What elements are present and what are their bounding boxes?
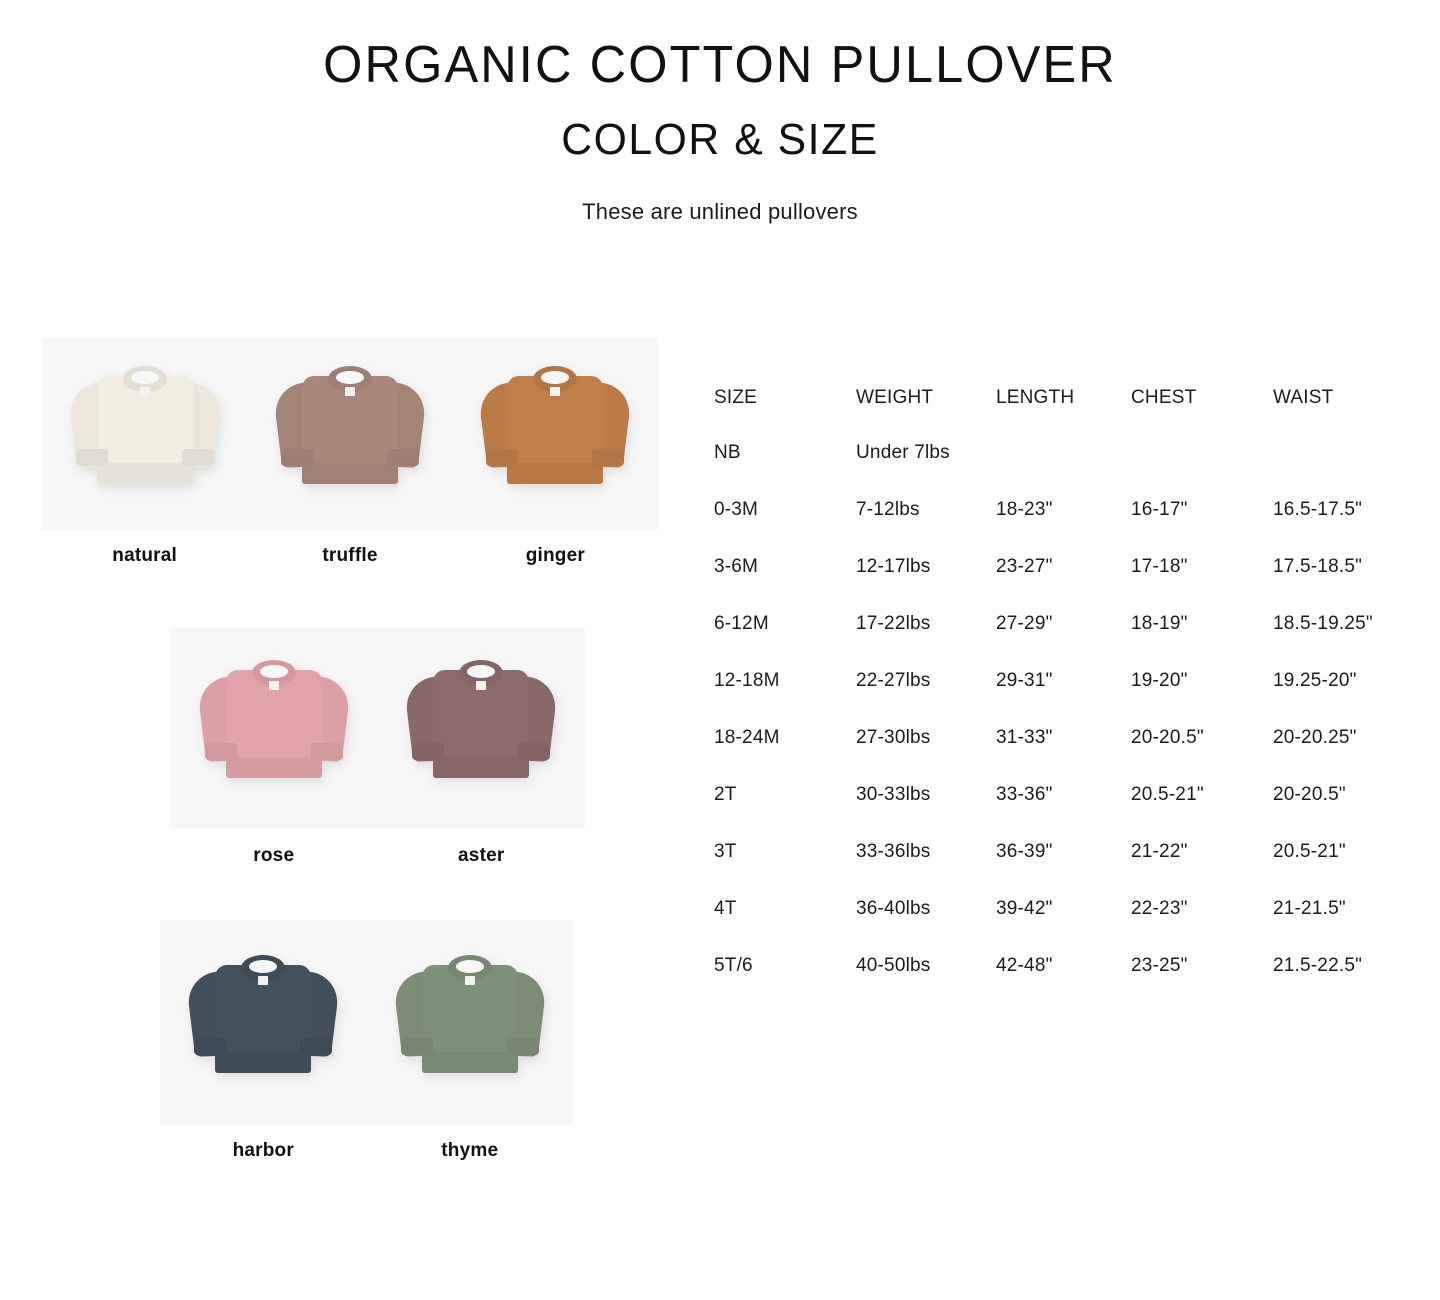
color-label-rose: rose <box>170 845 378 867</box>
cell-weight: 22-27lbs <box>856 652 996 709</box>
sweater-tag-part <box>345 387 355 396</box>
sweater-tag-part <box>258 976 268 985</box>
cell-weight: 7-12lbs <box>856 481 996 538</box>
color-photo-tile-row-1 <box>42 338 658 530</box>
color-label-row-2: rose aster <box>170 845 585 867</box>
cell-chest: 19-20" <box>1131 652 1273 709</box>
color-label-aster: aster <box>378 845 586 867</box>
sweater-neck-hole-part <box>131 371 159 384</box>
cell-weight: 30-33lbs <box>856 766 996 823</box>
column-header-weight: WEIGHT <box>856 372 996 424</box>
column-header-size: SIZE <box>714 372 856 424</box>
color-gallery: natural truffle ginger rose aster harbor… <box>0 300 700 1200</box>
sweater-icon <box>395 948 545 1098</box>
cell-waist: 20-20.25" <box>1273 709 1404 766</box>
sweater-cuff-l-part <box>412 743 444 760</box>
page-tagline: These are unlined pullovers <box>0 163 1440 225</box>
sweater-cuff-l-part <box>486 449 518 466</box>
size-chart-table: SIZE WEIGHT LENGTH CHEST WAIST NBUnder 7… <box>714 372 1404 994</box>
color-label-row-3: harbor thyme <box>160 1140 573 1162</box>
table-row: 5T/640-50lbs42-48"23-25"21.5-22.5" <box>714 937 1404 994</box>
cell-size: 4T <box>714 880 856 937</box>
cell-size: 6-12M <box>714 595 856 652</box>
color-photo-tile-row-3 <box>160 920 573 1125</box>
sweater-cuff-r-part <box>387 449 419 466</box>
cell-length: 29-31" <box>996 652 1131 709</box>
sweater-cuff-r-part <box>311 743 343 760</box>
sweater-hem-part <box>433 757 529 778</box>
color-label-row-1: natural truffle ginger <box>42 545 658 567</box>
color-label-truffle: truffle <box>247 545 452 567</box>
sweater-tag-part <box>550 387 560 396</box>
table-row: 0-3M7-12lbs18-23"16-17"16.5-17.5" <box>714 481 1404 538</box>
table-body: NBUnder 7lbs0-3M7-12lbs18-23"16-17"16.5-… <box>714 424 1404 994</box>
cell-chest <box>1131 424 1273 481</box>
table-row: 3T33-36lbs36-39"21-22"20.5-21" <box>714 823 1404 880</box>
cell-length: 31-33" <box>996 709 1131 766</box>
cell-weight: 27-30lbs <box>856 709 996 766</box>
cell-length: 33-36" <box>996 766 1131 823</box>
sweater-cuff-l-part <box>401 1038 433 1055</box>
table-row: 12-18M22-27lbs29-31"19-20"19.25-20" <box>714 652 1404 709</box>
sweater-neck-hole-part <box>456 960 484 973</box>
sweater-icon <box>199 653 349 803</box>
table-header-row: SIZE WEIGHT LENGTH CHEST WAIST <box>714 372 1404 424</box>
sweater-tag-part <box>140 387 150 396</box>
cell-weight: 36-40lbs <box>856 880 996 937</box>
cell-length: 36-39" <box>996 823 1131 880</box>
cell-chest: 23-25" <box>1131 937 1273 994</box>
cell-length: 27-29" <box>996 595 1131 652</box>
cell-size: 3T <box>714 823 856 880</box>
sweater-cuff-r-part <box>507 1038 539 1055</box>
cell-size: 5T/6 <box>714 937 856 994</box>
sweater-cuff-l-part <box>194 1038 226 1055</box>
sweater-tag-part <box>269 681 279 690</box>
cell-size: 12-18M <box>714 652 856 709</box>
sweater-cuff-r-part <box>592 449 624 466</box>
page-header: ORGANIC COTTON PULLOVER COLOR & SIZE The… <box>0 0 1440 225</box>
product-photo-harbor[interactable] <box>160 920 367 1125</box>
cell-length: 23-27" <box>996 538 1131 595</box>
sweater-cuff-r-part <box>182 449 214 466</box>
sweater-icon <box>188 948 338 1098</box>
product-photo-natural[interactable] <box>42 338 247 530</box>
sweater-neck-hole-part <box>260 665 288 678</box>
color-label-thyme: thyme <box>367 1140 574 1162</box>
sweater-tag-part <box>465 976 475 985</box>
cell-size: NB <box>714 424 856 481</box>
cell-size: 0-3M <box>714 481 856 538</box>
product-photo-rose[interactable] <box>170 628 378 828</box>
product-photo-truffle[interactable] <box>247 338 452 530</box>
size-chart: SIZE WEIGHT LENGTH CHEST WAIST NBUnder 7… <box>714 372 1404 994</box>
cell-chest: 22-23" <box>1131 880 1273 937</box>
cell-waist: 17.5-18.5" <box>1273 538 1404 595</box>
cell-weight: Under 7lbs <box>856 424 996 481</box>
cell-waist: 20.5-21" <box>1273 823 1404 880</box>
table-row: 3-6M12-17lbs23-27"17-18"17.5-18.5" <box>714 538 1404 595</box>
sweater-cuff-l-part <box>281 449 313 466</box>
table-row: 18-24M27-30lbs31-33"20-20.5"20-20.25" <box>714 709 1404 766</box>
sweater-hem-part <box>226 757 322 778</box>
sweater-cuff-r-part <box>300 1038 332 1055</box>
cell-weight: 12-17lbs <box>856 538 996 595</box>
cell-chest: 18-19" <box>1131 595 1273 652</box>
cell-size: 18-24M <box>714 709 856 766</box>
color-label-ginger: ginger <box>453 545 658 567</box>
cell-waist: 21-21.5" <box>1273 880 1404 937</box>
column-header-waist: WAIST <box>1273 372 1404 424</box>
cell-waist: 21.5-22.5" <box>1273 937 1404 994</box>
cell-chest: 20.5-21" <box>1131 766 1273 823</box>
cell-length <box>996 424 1131 481</box>
table-row: 6-12M17-22lbs27-29"18-19"18.5-19.25" <box>714 595 1404 652</box>
cell-waist: 18.5-19.25" <box>1273 595 1404 652</box>
color-photo-tile-row-2 <box>170 628 585 828</box>
sweater-tag-part <box>476 681 486 690</box>
sweater-icon <box>70 359 220 509</box>
table-row: 4T36-40lbs39-42"22-23"21-21.5" <box>714 880 1404 937</box>
cell-chest: 17-18" <box>1131 538 1273 595</box>
sweater-cuff-l-part <box>76 449 108 466</box>
cell-weight: 17-22lbs <box>856 595 996 652</box>
color-label-natural: natural <box>42 545 247 567</box>
cell-waist: 16.5-17.5" <box>1273 481 1404 538</box>
sweater-neck-hole-part <box>336 371 364 384</box>
cell-waist <box>1273 424 1404 481</box>
cell-length: 39-42" <box>996 880 1131 937</box>
product-photo-thyme[interactable] <box>367 920 574 1125</box>
column-header-chest: CHEST <box>1131 372 1273 424</box>
sweater-icon <box>406 653 556 803</box>
page-subtitle: COLOR & SIZE <box>22 93 1419 163</box>
column-header-length: LENGTH <box>996 372 1131 424</box>
cell-chest: 16-17" <box>1131 481 1273 538</box>
product-photo-ginger[interactable] <box>453 338 658 530</box>
cell-weight: 33-36lbs <box>856 823 996 880</box>
cell-waist: 20-20.5" <box>1273 766 1404 823</box>
table-row: NBUnder 7lbs <box>714 424 1404 481</box>
cell-size: 2T <box>714 766 856 823</box>
sweater-hem-part <box>507 463 603 484</box>
sweater-neck-hole-part <box>249 960 277 973</box>
product-photo-aster[interactable] <box>378 628 586 828</box>
page-title: ORGANIC COTTON PULLOVER <box>22 0 1419 93</box>
cell-size: 3-6M <box>714 538 856 595</box>
sweater-hem-part <box>97 463 193 484</box>
sweater-hem-part <box>422 1052 518 1073</box>
cell-length: 18-23" <box>996 481 1131 538</box>
table-row: 2T30-33lbs33-36"20.5-21"20-20.5" <box>714 766 1404 823</box>
sweater-hem-part <box>302 463 398 484</box>
sweater-cuff-r-part <box>518 743 550 760</box>
cell-weight: 40-50lbs <box>856 937 996 994</box>
sweater-hem-part <box>215 1052 311 1073</box>
color-label-harbor: harbor <box>160 1140 367 1162</box>
cell-waist: 19.25-20" <box>1273 652 1404 709</box>
cell-chest: 20-20.5" <box>1131 709 1273 766</box>
sweater-icon <box>480 359 630 509</box>
sweater-cuff-l-part <box>205 743 237 760</box>
cell-length: 42-48" <box>996 937 1131 994</box>
cell-chest: 21-22" <box>1131 823 1273 880</box>
sweater-icon <box>275 359 425 509</box>
